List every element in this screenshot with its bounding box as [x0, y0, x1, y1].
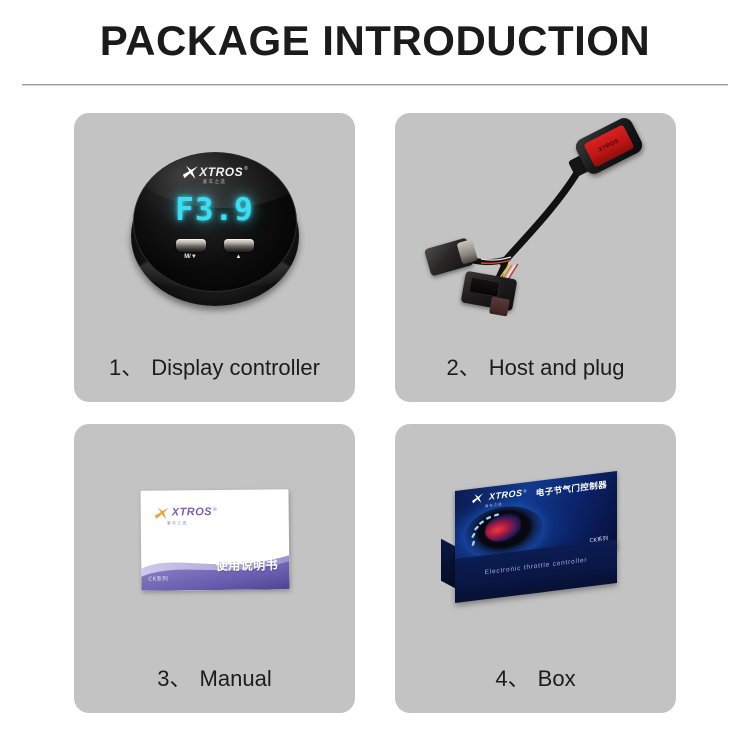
box-brand-name: XTROS: [489, 489, 523, 502]
display-controller-caption: 1、Display controller: [74, 350, 355, 382]
registered-mark-icon: ®: [244, 167, 248, 172]
controller-brand-name: XTROS: [199, 166, 243, 178]
manual-brand-name: XTROS: [171, 507, 212, 518]
controller-mode-down-button[interactable]: M/▼: [176, 239, 206, 261]
manual-series-code: CK系列: [148, 574, 168, 582]
host-label-brand: XTROS: [598, 138, 620, 153]
title-divider: [22, 84, 728, 86]
package-item-manual[interactable]: XTROS ® 爱车之选 使用说明书 CK系列 3、Manual: [74, 424, 355, 713]
caption-text: Manual: [200, 666, 272, 691]
box-handle-notch: [525, 588, 547, 602]
page-header: PACKAGE INTRODUCTION: [0, 0, 750, 90]
controller-up-button[interactable]: ▲: [224, 239, 254, 261]
controller-brand-sub: 爱车之选: [203, 179, 227, 185]
controller-led-display: F3.9: [175, 192, 254, 228]
star-icon: [181, 165, 198, 180]
package-item-box[interactable]: XTROS ® 爱车之选 电子节气门控制器 CK系列 Electronic th…: [395, 424, 676, 713]
controller-device: XTROS ® 爱车之选 F3.9 M/▼ ▲: [125, 144, 305, 314]
page-title: PACKAGE INTRODUCTION: [0, 17, 750, 65]
product-box: XTROS ® 爱车之选 电子节气门控制器 CK系列 Electronic th…: [441, 475, 631, 605]
manual-title-cn: 使用说明书: [215, 556, 278, 574]
caption-number: 2、: [446, 355, 480, 380]
registered-mark-icon: ®: [523, 489, 526, 493]
display-controller-image: XTROS ® 爱车之选 F3.9 M/▼ ▲: [74, 113, 355, 345]
controller-mode-down-label: M/▼: [176, 254, 206, 261]
manual-brand-sub: 爱车之选: [166, 520, 187, 526]
package-items-grid: XTROS ® 爱车之选 F3.9 M/▼ ▲: [74, 113, 676, 713]
package-item-display-controller[interactable]: XTROS ® 爱车之选 F3.9 M/▼ ▲: [74, 113, 355, 402]
caption-text: Box: [538, 666, 576, 691]
host-and-plug-caption: 2、Host and plug: [395, 350, 676, 382]
caption-text: Display controller: [151, 355, 320, 380]
host-and-plug-image: XTROS: [395, 113, 676, 345]
caption-number: 4、: [495, 666, 529, 691]
registered-mark-icon: ®: [213, 508, 217, 513]
package-item-host-and-plug[interactable]: XTROS 2、Host and plug: [395, 113, 676, 402]
caption-text: Host and plug: [489, 355, 625, 380]
box-caption: 4、Box: [395, 661, 676, 693]
box-title-cn: 电子节气门控制器: [535, 478, 606, 499]
package-introduction-page: PACKAGE INTRODUCTION XTRO: [0, 0, 750, 750]
controller-face: XTROS ® 爱车之选 F3.9 M/▼ ▲: [133, 152, 297, 292]
caption-number: 1、: [109, 355, 143, 380]
manual-image: XTROS ® 爱车之选 使用说明书 CK系列: [74, 424, 355, 656]
manual-booklet: XTROS ® 爱车之选 使用说明书 CK系列: [140, 489, 289, 591]
box-image: XTROS ® 爱车之选 电子节气门控制器 CK系列 Electronic th…: [395, 424, 676, 656]
star-icon: [153, 506, 170, 521]
controller-up-label: ▲: [224, 254, 254, 261]
box-subtitle-en: Electronic throttle controller: [455, 553, 617, 580]
manual-caption: 3、Manual: [74, 661, 355, 693]
controller-brand-logo: XTROS ®: [181, 166, 248, 180]
controller-button-row: M/▼ ▲: [176, 239, 254, 261]
caption-number: 3、: [157, 666, 191, 691]
metal-button-surface: [224, 239, 254, 252]
metal-button-surface: [176, 239, 206, 252]
